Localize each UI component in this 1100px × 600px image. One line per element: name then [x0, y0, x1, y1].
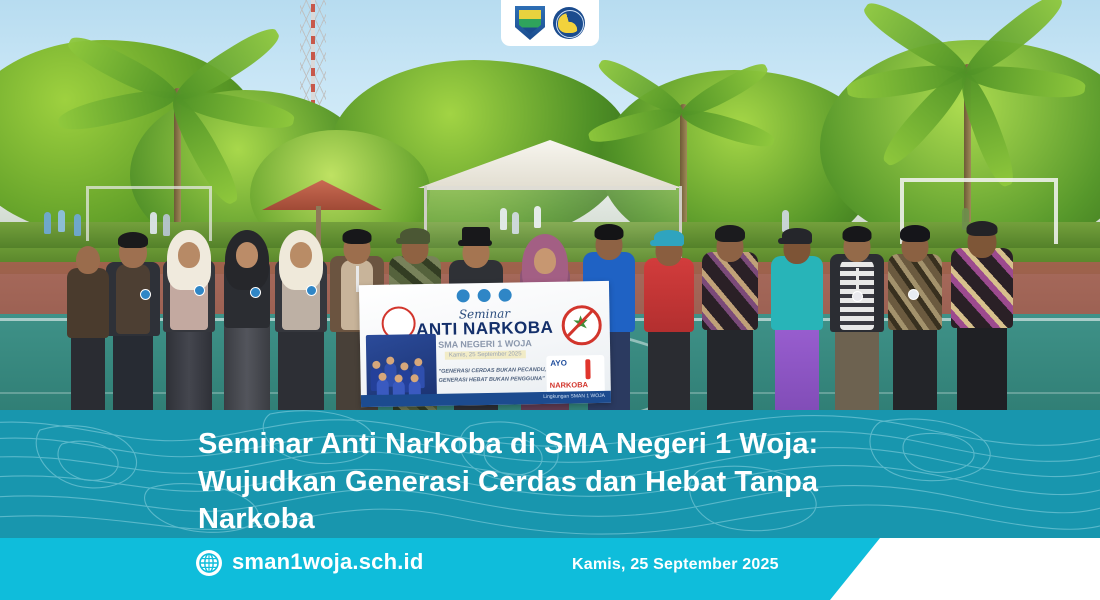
title-panel: Seminar Anti Narkoba di SMA Negeri 1 Woj… — [0, 410, 1100, 538]
person — [768, 220, 826, 420]
banner-date: Kamis, 25 September 2025 — [445, 350, 526, 359]
banner-subtitle: SMA NEGERI 1 WOJA — [438, 338, 532, 350]
banner-student-photo — [366, 334, 437, 403]
website-url[interactable]: sman1woja.sch.id — [232, 549, 424, 575]
person — [828, 218, 886, 420]
page-title: Seminar Anti Narkoba di SMA Negeri 1 Woj… — [198, 426, 898, 538]
page-title-line-3: Narkoba — [198, 501, 898, 538]
banner-logo — [457, 289, 470, 302]
person — [160, 224, 218, 420]
person — [104, 222, 162, 420]
person — [950, 214, 1014, 420]
page-title-line-1: Seminar Anti Narkoba di SMA Negeri 1 Woj… — [198, 426, 898, 464]
banner-title: ANTI NARKOBA — [416, 318, 554, 340]
banner-org-logos — [457, 289, 512, 303]
banner-logo — [478, 289, 491, 302]
exclamation-mark-icon — [585, 359, 590, 379]
person — [640, 220, 698, 420]
event-photo: Seminar ANTI NARKOBA SMA NEGERI 1 WOJA K… — [0, 0, 1100, 420]
footer-bar — [0, 538, 1100, 600]
tut-wuri-handayani-emblem-icon — [553, 7, 585, 39]
header-logo-card — [501, 0, 599, 46]
person — [700, 216, 760, 420]
ayo-bilang-tidak-narkoba-logo: AYO NARKOBA — [546, 355, 605, 394]
person — [886, 218, 944, 420]
no-cannabis-icon — [561, 305, 602, 346]
person — [218, 224, 276, 420]
publish-date: Kamis, 25 September 2025 — [572, 556, 779, 574]
event-banner: Seminar ANTI NARKOBA SMA NEGERI 1 WOJA K… — [359, 281, 611, 407]
banner-footer-credit: Lingkungan SMAN 1 WOJA — [543, 393, 605, 400]
news-banner-card: Seminar ANTI NARKOBA SMA NEGERI 1 WOJA K… — [0, 0, 1100, 600]
narkoba-label: NARKOBA — [550, 380, 588, 390]
person — [272, 224, 330, 420]
globe-icon — [196, 550, 222, 576]
page-title-line-2: Wujudkan Generasi Cerdas dan Hebat Tanpa — [198, 464, 898, 502]
regional-government-emblem-icon — [515, 6, 545, 40]
banner-logo — [499, 289, 512, 302]
person — [66, 238, 110, 420]
ayo-label: AYO — [550, 359, 567, 368]
